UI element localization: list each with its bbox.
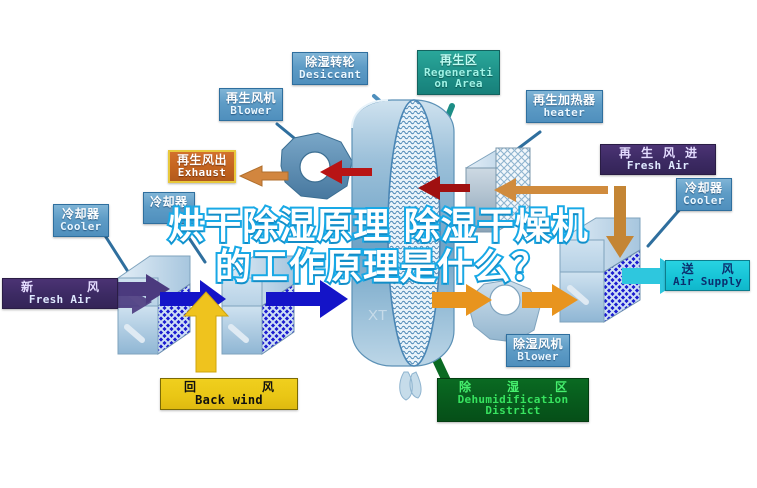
- label-regeneration-heater[interactable]: 再生加热器 heater: [526, 90, 603, 123]
- label-cn: 除 湿 区: [447, 381, 579, 394]
- label-en: Exhaust: [177, 167, 227, 179]
- label-en: Blower: [226, 105, 276, 117]
- label-regeneration-fresh-air-in[interactable]: 再生风进 Fresh Air: [600, 144, 716, 175]
- diagram-canvas: XT: [0, 0, 757, 488]
- label-en: Desiccant: [299, 69, 361, 81]
- label-en: heater: [533, 107, 596, 119]
- label-cn: 回 风: [170, 381, 288, 394]
- label-cooler-right[interactable]: 冷却器 Cooler: [676, 178, 732, 211]
- label-exhaust[interactable]: 再生风出 Exhaust: [168, 150, 236, 183]
- label-cn: 再生风机: [226, 92, 276, 105]
- label-en: Back wind: [170, 394, 288, 407]
- label-cn: 再生风进: [609, 147, 707, 160]
- svg-text:XT: XT: [368, 307, 387, 324]
- desiccant-rotor: XT: [352, 100, 454, 400]
- label-en-2: District: [447, 405, 579, 417]
- label-air-supply[interactable]: 送 风 Air Supply: [665, 260, 750, 291]
- label-desiccant-wheel[interactable]: 除湿转轮 Desiccant: [292, 52, 368, 85]
- label-cn: 冷却器: [60, 208, 102, 221]
- process-blower-housing: [470, 280, 540, 342]
- label-cn: 再生区: [424, 54, 493, 67]
- label-en: Fresh Air: [609, 160, 707, 172]
- label-fresh-air-in[interactable]: 新 风 Fresh Air: [2, 278, 118, 309]
- label-cn: 新 风: [11, 281, 109, 294]
- diagram-artwork: XT: [0, 0, 757, 488]
- label-dehumidification-blower[interactable]: 除湿风机 Blower: [506, 334, 570, 367]
- label-cn: 冷却器: [683, 182, 725, 195]
- label-cn: 再生风出: [177, 154, 227, 167]
- label-cn: 除湿转轮: [299, 56, 361, 69]
- label-en: Cooler: [60, 221, 102, 233]
- label-back-wind[interactable]: 回 风 Back wind: [160, 378, 298, 410]
- label-cooler-mid[interactable]: 冷却器: [143, 192, 195, 224]
- label-en: Cooler: [683, 195, 725, 207]
- label-en-2: on Area: [424, 78, 493, 90]
- label-regeneration-area[interactable]: 再生区 Regenerati on Area: [417, 50, 500, 95]
- label-cooler-left[interactable]: 冷却器 Cooler: [53, 204, 109, 237]
- exhaust-arrow: [240, 166, 288, 186]
- label-dehumidification-district[interactable]: 除 湿 区 Dehumidification District: [437, 378, 589, 422]
- label-cn: 冷却器: [150, 196, 188, 209]
- label-cn: 除湿风机: [513, 338, 563, 351]
- label-cn: 再生加热器: [533, 94, 596, 107]
- heater-inlet-arrow: [494, 178, 608, 202]
- label-regeneration-blower[interactable]: 再生风机 Blower: [219, 88, 283, 121]
- label-en: Blower: [513, 351, 563, 363]
- label-en: Fresh Air: [11, 294, 109, 306]
- label-cn: 送 风: [673, 263, 742, 276]
- label-en: Air Supply: [673, 276, 742, 288]
